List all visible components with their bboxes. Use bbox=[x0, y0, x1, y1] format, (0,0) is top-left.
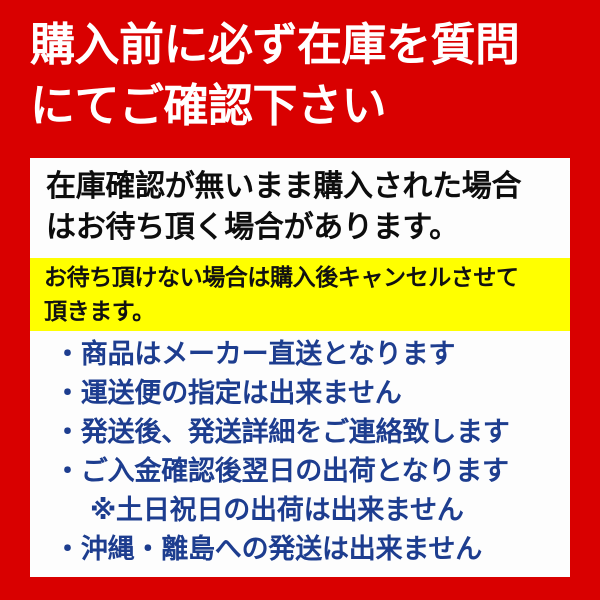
list-item: ・沖縄・離島への発送は出来ません bbox=[30, 530, 570, 569]
shipping-terms-list: ・商品はメーカー直送となります ・運送便の指定は出来ません ・発送後、発送詳細を… bbox=[30, 335, 570, 569]
list-item: ・発送後、発送詳細をご連絡致します bbox=[30, 413, 570, 452]
list-item-note: ※土日祝日の出荷は出来ません bbox=[30, 491, 570, 530]
title-line-2: にてご確認下さい bbox=[16, 75, 584, 136]
white-content-panel: 在庫確認が無いまま購入された場合 はお待ち頂く場合があります。 お待ち頂けない場… bbox=[30, 158, 570, 577]
cancellation-highlight-band: お待ち頂けない場合は購入後キャンセルさせて 頂きます。 bbox=[30, 258, 570, 331]
notice-line-2: はお待ち頂く場合があります。 bbox=[30, 207, 570, 248]
stock-notice-block: 在庫確認が無いまま購入された場合 はお待ち頂く場合があります。 bbox=[30, 158, 570, 248]
banner-title: 購入前に必ず在庫を質問 にてご確認下さい bbox=[0, 14, 600, 136]
list-item: ・運送便の指定は出来ません bbox=[30, 374, 570, 413]
list-item: ・ご入金確認後翌日の出荷となります bbox=[30, 452, 570, 491]
title-line-1: 購入前に必ず在庫を質問 bbox=[16, 14, 584, 75]
notice-line-1: 在庫確認が無いまま購入された場合 bbox=[30, 166, 570, 207]
notice-banner: 購入前に必ず在庫を質問 にてご確認下さい 在庫確認が無いまま購入された場合 はお… bbox=[0, 0, 600, 600]
list-item: ・商品はメーカー直送となります bbox=[30, 335, 570, 374]
highlight-line-1: お待ち頂けない場合は購入後キャンセルさせて bbox=[30, 261, 570, 295]
highlight-line-2: 頂きます。 bbox=[30, 295, 570, 329]
